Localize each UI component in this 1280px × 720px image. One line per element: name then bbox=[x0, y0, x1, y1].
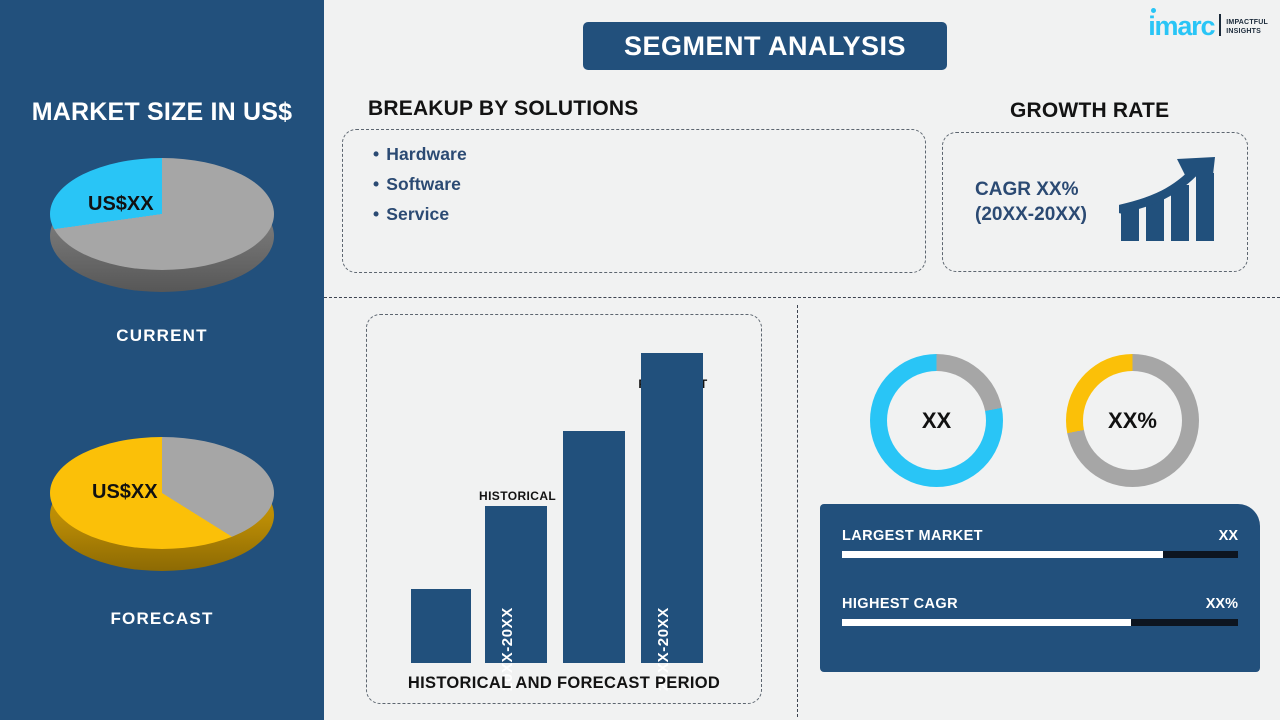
logo-tagline-line1: IMPACTFUL bbox=[1226, 19, 1268, 28]
stat-progress-track-highest-cagr bbox=[842, 619, 1238, 626]
cagr-line-1: CAGR XX% bbox=[975, 177, 1087, 202]
bar-3 bbox=[563, 431, 625, 663]
stat-label-highest-cagr: HIGHEST CAGR bbox=[842, 596, 958, 612]
stat-row-largest-market-head: LARGEST MARKET XX bbox=[842, 528, 1238, 544]
solutions-list: •Hardware •Software •Service bbox=[373, 144, 467, 234]
solutions-box: •Hardware •Software •Service bbox=[342, 129, 926, 273]
solution-item-software: •Software bbox=[373, 174, 467, 195]
stat-row-largest-market: LARGEST MARKET XX bbox=[842, 528, 1238, 558]
donut-chart-1: XX bbox=[870, 354, 1003, 487]
logo-wordmark: imarc bbox=[1148, 14, 1214, 38]
stat-row-highest-cagr: HIGHEST CAGR XX% bbox=[842, 596, 1238, 626]
bullet-icon: • bbox=[373, 174, 379, 194]
stat-value-highest-cagr: XX% bbox=[1206, 596, 1238, 612]
logo-tagline-line2: INSIGHTS bbox=[1226, 28, 1268, 37]
sidebar-title: MARKET SIZE IN US$ bbox=[0, 98, 324, 127]
logo-tagline: IMPACTFUL INSIGHTS bbox=[1226, 19, 1268, 37]
bullet-icon: • bbox=[373, 144, 379, 164]
pie-chart-current: US$XX bbox=[50, 158, 274, 304]
pie-chart-forecast: US$XX bbox=[50, 437, 274, 583]
market-size-current-block: US$XX CURRENT bbox=[0, 158, 324, 346]
pie-forecast-caption: FORECAST bbox=[0, 609, 324, 629]
bar-chart-x-axis-caption: HISTORICAL AND FORECAST PERIOD bbox=[367, 674, 761, 693]
stat-label-largest-market: LARGEST MARKET bbox=[842, 528, 983, 544]
donut-chart-1-value: XX bbox=[887, 371, 986, 470]
pie-current-top-face bbox=[50, 158, 274, 270]
solution-item-software-label: Software bbox=[386, 174, 461, 194]
stat-value-largest-market: XX bbox=[1219, 528, 1238, 544]
solutions-section-title: BREAKUP BY SOLUTIONS bbox=[368, 97, 638, 121]
logo-divider bbox=[1219, 14, 1221, 36]
imarc-logo: imarc IMPACTFUL INSIGHTS bbox=[1148, 14, 1268, 38]
bar-chart: HISTORICAL 20XX-20XX FORECAST 20XX-20XX … bbox=[367, 315, 761, 703]
donut-chart-2-value: XX% bbox=[1083, 371, 1182, 470]
donut-chart-2: XX% bbox=[1066, 354, 1199, 487]
bar-4: 20XX-20XX bbox=[641, 353, 703, 663]
pie-forecast-top-face bbox=[50, 437, 274, 549]
page-title-banner: SEGMENT ANALYSIS bbox=[583, 22, 947, 70]
horizontal-divider bbox=[324, 297, 1280, 298]
solution-item-hardware-label: Hardware bbox=[386, 144, 467, 164]
stat-progress-track-largest-market bbox=[842, 551, 1238, 558]
bar-1 bbox=[411, 589, 471, 663]
stat-progress-fill-largest-market bbox=[842, 551, 1163, 558]
bar-2: 20XX-20XX bbox=[485, 506, 547, 663]
content-panel: SEGMENT ANALYSIS imarc IMPACTFUL INSIGHT… bbox=[324, 0, 1280, 720]
bar-2-annotation-historical: HISTORICAL bbox=[479, 489, 555, 503]
growth-box: CAGR XX% (20XX-20XX) bbox=[942, 132, 1248, 272]
pie-current-caption: CURRENT bbox=[0, 326, 324, 346]
stat-row-highest-cagr-head: HIGHEST CAGR XX% bbox=[842, 596, 1238, 612]
vertical-divider bbox=[797, 305, 798, 717]
key-stats-card: LARGEST MARKET XX HIGHEST CAGR XX% bbox=[820, 504, 1260, 672]
solution-item-service-label: Service bbox=[386, 204, 449, 224]
logo-wordmark-text: imarc bbox=[1148, 11, 1214, 41]
pie-current-value-label: US$XX bbox=[88, 193, 154, 216]
solution-item-hardware: •Hardware bbox=[373, 144, 467, 165]
stat-progress-fill-highest-cagr bbox=[842, 619, 1131, 626]
cagr-text: CAGR XX% (20XX-20XX) bbox=[975, 177, 1087, 227]
historical-forecast-chart-box: HISTORICAL 20XX-20XX FORECAST 20XX-20XX … bbox=[366, 314, 762, 704]
growth-arrow-bars-icon bbox=[1119, 155, 1229, 245]
growth-section-title: GROWTH RATE bbox=[1010, 99, 1169, 123]
pie-forecast-value-label: US$XX bbox=[92, 481, 158, 504]
sidebar-panel: MARKET SIZE IN US$ US$XX CURRENT US$XX F… bbox=[0, 0, 324, 720]
solution-item-service: •Service bbox=[373, 204, 467, 225]
infographic-root: MARKET SIZE IN US$ US$XX CURRENT US$XX F… bbox=[0, 0, 1280, 720]
bullet-icon: • bbox=[373, 204, 379, 224]
market-size-forecast-block: US$XX FORECAST bbox=[0, 437, 324, 629]
cagr-line-2: (20XX-20XX) bbox=[975, 202, 1087, 227]
